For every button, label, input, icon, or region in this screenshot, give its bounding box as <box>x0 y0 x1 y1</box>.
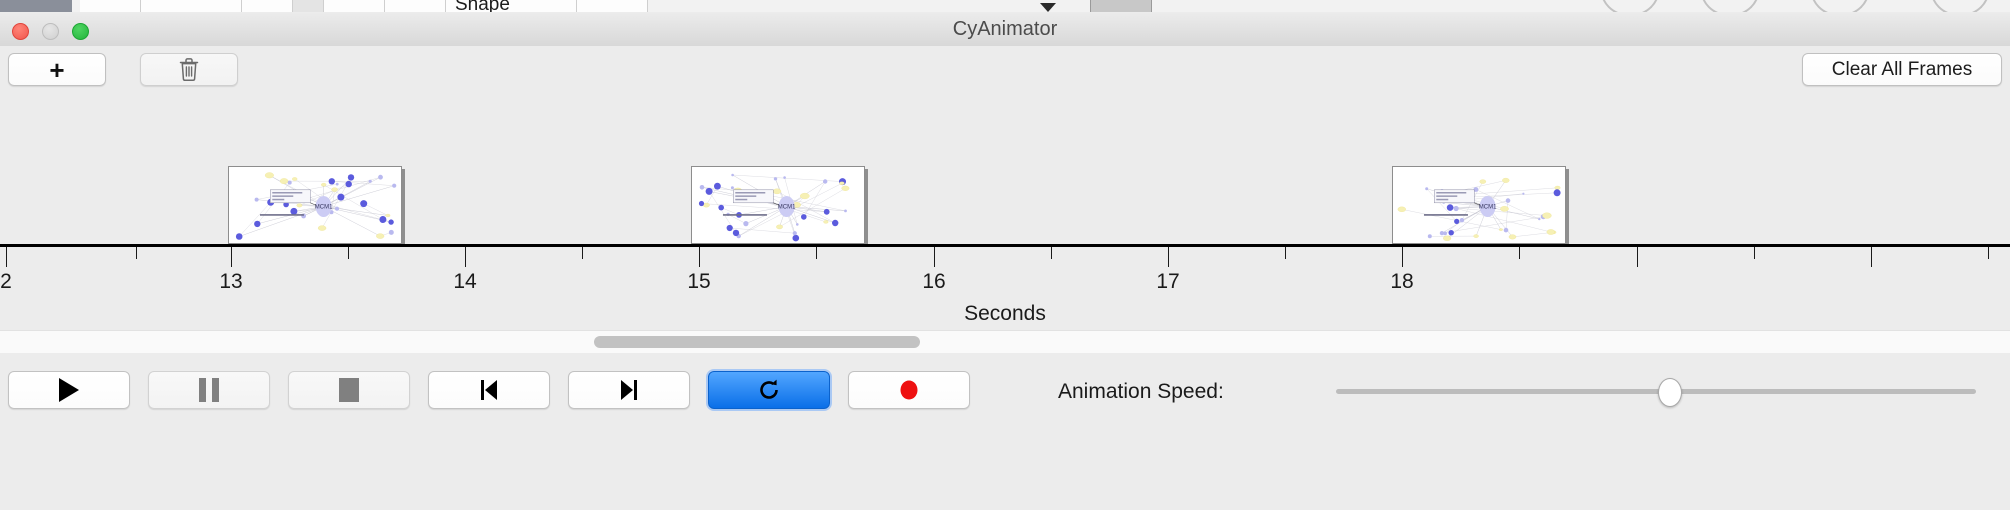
background-selected-tab <box>0 0 72 12</box>
pause-icon <box>199 378 219 402</box>
plus-icon: + <box>49 57 64 83</box>
pause-button[interactable] <box>148 371 270 409</box>
clear-all-frames-label: Clear All Frames <box>1832 59 1972 81</box>
record-icon <box>896 377 922 403</box>
svg-text:MCM1: MCM1 <box>778 205 796 211</box>
ruler-tick-major <box>465 247 466 267</box>
ruler-tick-label: 13 <box>219 270 242 294</box>
toolbar: + Clear All Frames <box>0 46 2010 93</box>
ruler-tick-major <box>231 247 232 267</box>
ruler-tick-major <box>1871 247 1872 267</box>
timeline-frame-thumbnail[interactable]: MCM1 <box>228 166 402 244</box>
ruler-tick-major <box>1637 247 1638 267</box>
timeline-scrollbar[interactable] <box>0 330 2010 354</box>
animation-speed-slider-thumb[interactable] <box>1658 378 1682 407</box>
background-cell <box>293 0 324 12</box>
frames-area[interactable]: MCM1MCM1MCM1 <box>0 92 2010 244</box>
delete-frame-button[interactable] <box>140 53 238 86</box>
playback-controls: Animation Speed: <box>0 353 2010 510</box>
play-button[interactable] <box>8 371 130 409</box>
ruler-tick-minor <box>1051 247 1052 259</box>
ruler-tick-minor <box>1519 247 1520 259</box>
ruler-tick-major <box>699 247 700 267</box>
scrollbar-thumb[interactable] <box>594 336 920 348</box>
ruler-baseline <box>0 244 2010 247</box>
next-frame-button[interactable] <box>568 371 690 409</box>
ruler-tick-label: 14 <box>453 270 476 294</box>
background-cell <box>141 0 242 12</box>
clear-all-frames-button[interactable]: Clear All Frames <box>1802 53 2002 86</box>
timeline-frame-thumbnail[interactable]: MCM1 <box>691 166 865 244</box>
ruler-tick-major <box>934 247 935 267</box>
play-icon <box>59 378 79 402</box>
stop-icon <box>339 378 359 402</box>
add-frame-button[interactable]: + <box>8 53 106 86</box>
animation-speed-label: Animation Speed: <box>1058 380 1224 404</box>
cyanimator-window: Shape CyAnimator + Clear All Frames <box>0 0 2010 510</box>
timeline-ruler[interactable]: 2131415161718 Seconds <box>0 244 2010 330</box>
ruler-tick-major <box>1402 247 1403 267</box>
background-cursor-marker <box>1040 3 1056 12</box>
loop-button[interactable] <box>708 371 830 409</box>
background-cell <box>80 0 141 12</box>
ruler-tick-minor <box>1988 247 1989 259</box>
record-button[interactable] <box>848 371 970 409</box>
animation-speed-slider[interactable] <box>1336 389 1976 394</box>
previous-frame-button[interactable] <box>428 371 550 409</box>
ruler-tick-major <box>6 247 7 267</box>
ruler-tick-minor <box>582 247 583 259</box>
ruler-tick-minor <box>816 247 817 259</box>
background-cell <box>385 0 446 12</box>
ruler-tick-label: 17 <box>1156 270 1179 294</box>
stop-button[interactable] <box>288 371 410 409</box>
skip-forward-icon <box>616 377 642 403</box>
timeline-frame-thumbnail[interactable]: MCM1 <box>1392 166 1566 244</box>
background-cell <box>242 0 293 12</box>
ruler-tick-minor <box>1754 247 1755 259</box>
svg-text:MCM1: MCM1 <box>315 205 333 211</box>
skip-back-icon <box>476 377 502 403</box>
ruler-tick-label: 16 <box>922 270 945 294</box>
background-cell <box>577 0 648 12</box>
trash-icon <box>178 57 200 82</box>
title-bar[interactable]: CyAnimator <box>0 12 2010 47</box>
loop-icon <box>756 377 782 403</box>
ruler-tick-label: 15 <box>687 270 710 294</box>
ruler-tick-label: 2 <box>0 270 12 294</box>
ruler-tick-minor <box>348 247 349 259</box>
axis-title-seconds: Seconds <box>0 302 2010 326</box>
timeline-panel[interactable]: MCM1MCM1MCM1 2131415161718 Seconds <box>0 92 2010 330</box>
ruler-tick-label: 18 <box>1390 270 1413 294</box>
background-cell <box>324 0 385 12</box>
window-title: CyAnimator <box>0 12 2010 46</box>
ruler-tick-major <box>1168 247 1169 267</box>
ruler-tick-minor <box>1285 247 1286 259</box>
background-scroll-region <box>1090 0 1152 12</box>
svg-text:MCM1: MCM1 <box>1479 205 1497 211</box>
ruler-tick-minor <box>136 247 137 259</box>
